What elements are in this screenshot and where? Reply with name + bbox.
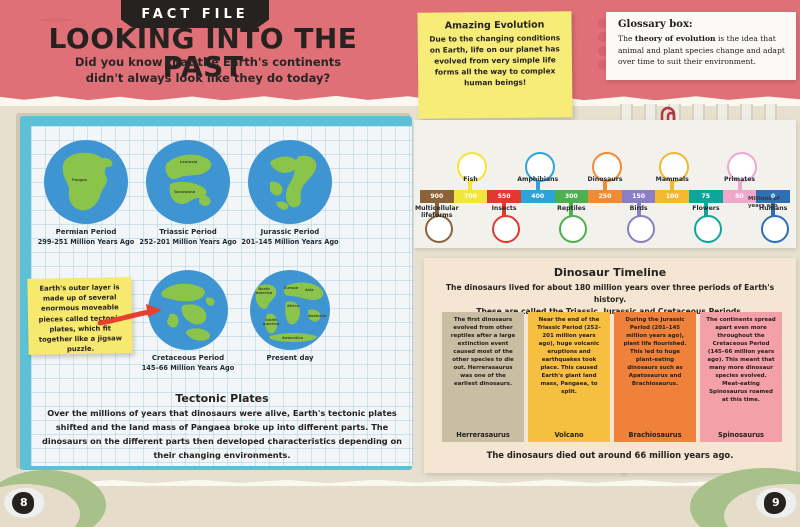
dinosaur-timeline-footer: The dinosaurs died out around 66 million…	[434, 450, 786, 460]
humans-icon	[761, 215, 789, 243]
sticky-note-body: Due to the changing conditions on Earth,…	[426, 32, 565, 89]
continent-label-antarctica: Antarctica	[282, 336, 303, 340]
amazing-evolution-note: Amazing Evolution Due to the changing co…	[417, 11, 572, 119]
page-spread: FACT FILE LOOKING INTO THE PAST Did you …	[0, 0, 800, 527]
timeline-unit-label: Millions of years ago	[748, 196, 796, 210]
bird-icon	[627, 215, 655, 243]
globe-permian: Pangea	[44, 140, 128, 224]
red-arrow-icon	[96, 299, 166, 329]
timeline-milestone-label: Mammals	[650, 176, 694, 183]
glossary-body: The theory of evolution is the idea that…	[618, 33, 787, 68]
reptile-icon	[559, 215, 587, 243]
dinosaur-card-text: The continents spread apart even more th…	[700, 312, 782, 405]
continent-label-asia: Asia	[305, 288, 314, 292]
fact-file-label: FACT FILE	[141, 7, 248, 22]
globe-present-day: North America Europe Asia Africa South A…	[250, 270, 330, 350]
sticky-note-heading: Amazing Evolution	[426, 19, 564, 31]
dinosaur-card: The continents spread apart even more th…	[700, 312, 782, 442]
dinosaur-timeline-heading: Dinosaur Timeline	[424, 266, 796, 279]
dinosaur-card-text: Near the end of the Triassic Period (252…	[528, 312, 610, 397]
glossary-box: Glossary box: The theory of evolution is…	[606, 12, 796, 80]
dinosaur-card-caption: Spinosaurus	[700, 431, 782, 439]
dinosaur-card: The first dinosaurs evolved from other r…	[442, 312, 524, 442]
evolution-timeline-card: 90070055040030025015010075500 Multicellu…	[414, 120, 796, 248]
dinosaur-card-caption: Volcano	[528, 431, 610, 439]
cell-icon	[425, 215, 453, 243]
glossary-term: theory of evolution	[635, 34, 716, 43]
continent-label-europe: Europe	[284, 286, 298, 290]
glossary-heading: Glossary box:	[618, 19, 787, 30]
page-number-right: 9	[756, 488, 796, 518]
timeline-milestone-label: Insects	[482, 205, 526, 212]
continent-label-north-america: North America	[255, 287, 273, 295]
tectonic-plates-heading: Tectonic Plates	[31, 392, 413, 405]
timeline-milestone-label: Amphibians	[516, 176, 560, 183]
bottom-strip	[0, 486, 800, 527]
insect-icon	[492, 215, 520, 243]
page-subtitle: Did you know that the Earth's continents…	[38, 55, 378, 86]
continent-label-africa: Africa	[287, 304, 299, 308]
page-subtitle-line2: didn't always look like they do today?	[38, 71, 378, 87]
dinosaur-card: Near the end of the Triassic Period (252…	[528, 312, 610, 442]
globe-caption-present-day: Present day	[248, 354, 332, 364]
continent-label-south-america: South America	[262, 318, 280, 326]
flower-icon	[694, 215, 722, 243]
timeline-milestone-label: Primates	[718, 176, 762, 183]
tectonic-plates-body: Over the millions of years that dinosaur…	[41, 407, 403, 463]
globe-caption-jurassic: Jurassic Period201–145 Million Years Ago	[238, 228, 342, 248]
page-number-right-value: 9	[772, 496, 780, 509]
dinosaur-card-caption: Brachiosaurus	[614, 431, 696, 439]
globe-triassic: Laurasia Gondwana	[146, 140, 230, 224]
dinosaur-card-text: The first dinosaurs evolved from other r…	[442, 312, 524, 389]
timeline-milestone-label: Fish	[448, 176, 492, 183]
timeline-milestone-label: Multicellular lifeforms	[415, 205, 459, 219]
dinosaur-card-list: The first dinosaurs evolved from other r…	[442, 312, 782, 442]
page-number-left: 8	[4, 488, 44, 518]
globe-caption-cretaceous: Cretaceous Period145–66 Million Years Ag…	[136, 354, 240, 374]
timeline-milestone-label: Birds	[617, 205, 661, 212]
timeline-milestone-label: Flowers	[684, 205, 728, 212]
landmass-label-laurasia: Laurasia	[180, 160, 197, 164]
globe-caption-permian: Permian Period299-251 Million Years Ago	[34, 228, 138, 248]
landmass-label-pangea: Pangea	[72, 178, 87, 182]
page-subtitle-line1: Did you know that the Earth's continents	[38, 55, 378, 71]
dinosaur-timeline-card: Dinosaur Timeline The dinosaurs lived fo…	[424, 258, 796, 473]
continent-label-australia: Australia	[308, 314, 326, 318]
dinosaur-card-text: During the Jurassic Period (201–145 mill…	[614, 312, 696, 389]
landmass-label-gondwana: Gondwana	[174, 190, 195, 194]
page-number-left-value: 8	[20, 496, 28, 509]
timeline-milestone-label: Dinosaurs	[583, 176, 627, 183]
globe-jurassic	[248, 140, 332, 224]
globe-caption-triassic: Triassic Period252–201 Million Years Ago	[136, 228, 240, 248]
dinosaur-card: During the Jurassic Period (201–145 mill…	[614, 312, 696, 442]
dinosaur-card-caption: Herrerasaurus	[442, 431, 524, 439]
timeline-milestone-label: Reptiles	[549, 205, 593, 212]
